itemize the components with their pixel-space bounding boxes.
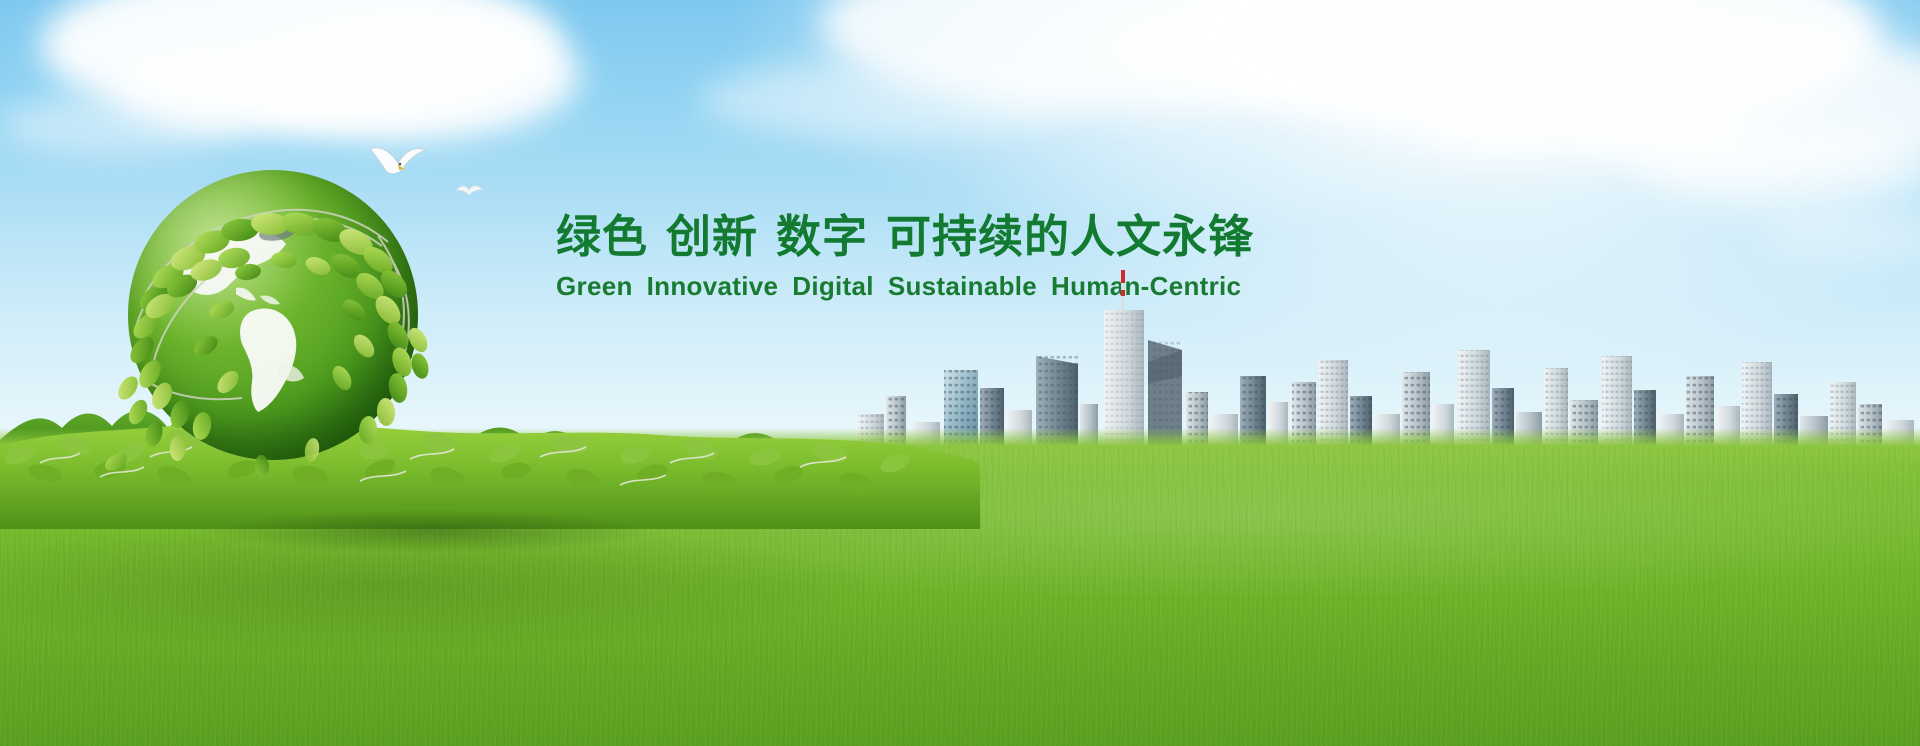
subheadline-part-1: Green (556, 271, 633, 301)
headline-part-3: 数字 (776, 211, 868, 262)
headline-part-4: 可持续的人文永锋 (886, 211, 1254, 262)
cloud-shape (700, 60, 1080, 140)
eco-globe (128, 170, 428, 470)
globe-leaf-vines (102, 150, 452, 490)
cloud-shape (1430, 95, 1760, 165)
globe-ground-shadow (120, 501, 740, 561)
banner-headline: 绿色创新数字可持续的人文永锋 (556, 212, 1316, 262)
cloud-shape (1760, 210, 1920, 260)
cloud-shape (0, 95, 240, 155)
eco-hero-banner: 绿色创新数字可持续的人文永锋 GreenInnovativeDigitalSus… (0, 0, 1920, 746)
seagull-small-icon (455, 182, 485, 198)
headline-part-1: 绿色 (556, 211, 648, 262)
subheadline-part-2: Innovative (647, 271, 779, 301)
headline-part-2: 创新 (666, 211, 758, 262)
